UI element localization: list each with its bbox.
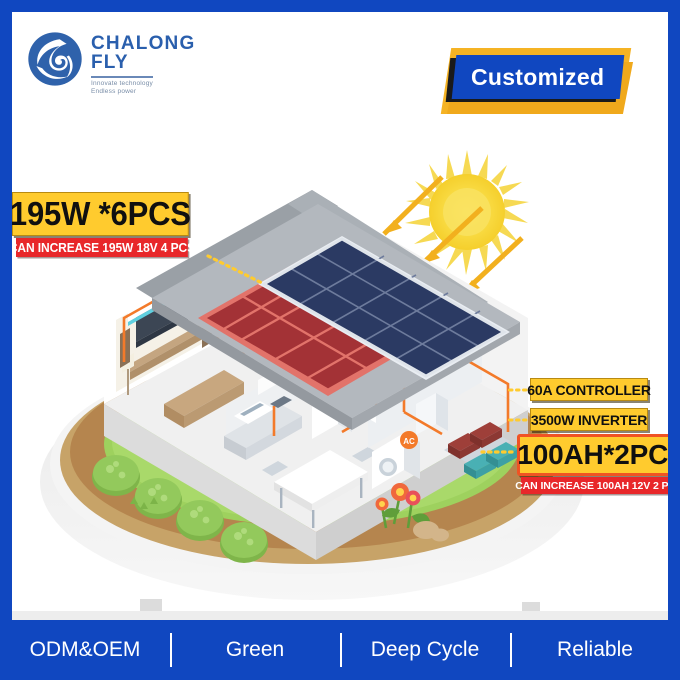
callout-battery: 100AH*2PCS CAN INCREASE 100AH 12V 2 PCS [517, 434, 668, 494]
footer-item-deep-cycle[interactable]: Deep Cycle [340, 638, 510, 662]
customized-banner: Customized [442, 42, 632, 120]
callout-battery-title: 100AH*2PCS [517, 434, 668, 476]
footer-item-label: Deep Cycle [371, 638, 480, 661]
sun-icon [405, 150, 529, 275]
chalongfly-swirl-icon [26, 30, 84, 88]
logo-tagline-line-2: Endless power [91, 88, 195, 96]
logo-name-line-1: CHALONG [91, 34, 195, 53]
footer-item-label: Green [226, 638, 284, 661]
image-canvas: DC AC [12, 12, 668, 620]
strip-nub-left [140, 599, 162, 611]
callout-solar-panels: 195W *6PCS CAN INCREASE 195W 18V 4 PCS [12, 192, 200, 257]
callout-battery-subtitle: CAN INCREASE 100AH 12V 2 PCS [521, 477, 668, 494]
callout-panels-title: 195W *6PCS [12, 192, 189, 236]
banner-plate: Customized [452, 55, 625, 99]
feature-footer-bar: ODM&OEM Green Deep Cycle Reliable [0, 620, 680, 680]
callout-controller: 60A CONTROLLER [530, 378, 648, 401]
callout-panels-subtitle: CAN INCREASE 195W 18V 4 PCS [16, 238, 188, 257]
footer-item-odm-oem[interactable]: ODM&OEM [0, 638, 170, 662]
brand-logo: CHALONG FLY Innovate technology Endless … [26, 30, 195, 96]
footer-accent-strip [12, 611, 668, 620]
footer-item-label: Reliable [557, 638, 633, 661]
callout-inverter-title: 3500W INVERTER [530, 408, 648, 431]
strip-nub-right [522, 602, 540, 611]
footer-item-green[interactable]: Green [170, 638, 340, 662]
footer-item-label: ODM&OEM [30, 638, 141, 661]
logo-tagline-line-1: Innovate technology [91, 80, 195, 88]
product-image-frame: DC AC [0, 0, 680, 680]
logo-name-line-2: FLY [91, 53, 195, 72]
banner-label: Customized [471, 64, 604, 91]
callout-inverter: 3500W INVERTER [530, 408, 648, 431]
footer-item-reliable[interactable]: Reliable [510, 638, 680, 662]
logo-divider [91, 76, 153, 78]
logo-wordmark: CHALONG FLY Innovate technology Endless … [91, 30, 195, 96]
svg-text:AC: AC [403, 437, 415, 446]
callout-controller-title: 60A CONTROLLER [530, 378, 648, 401]
